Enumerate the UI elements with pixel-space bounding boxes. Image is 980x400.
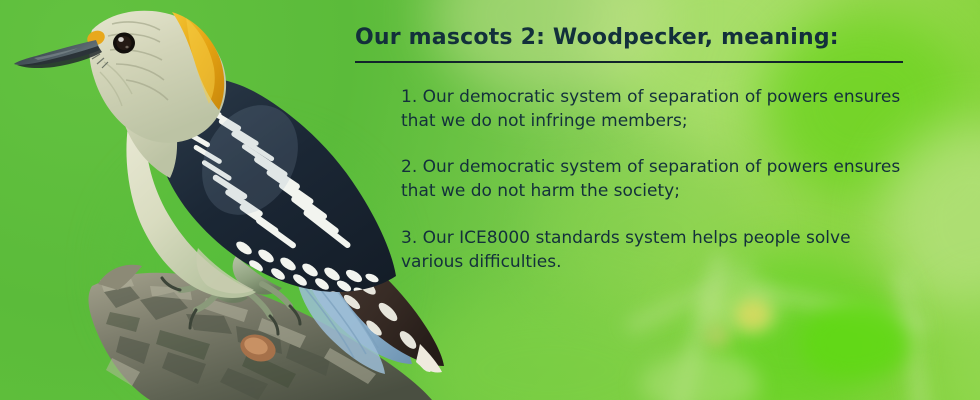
mascot-meaning-list: 1. Our democratic system of separation o… <box>401 85 925 275</box>
banner-text-block: Our mascots 2: Woodpecker, meaning: 1. O… <box>355 24 925 274</box>
blurred-bud <box>736 300 770 330</box>
list-item: 2. Our democratic system of separation o… <box>401 155 916 204</box>
list-item: 1. Our democratic system of separation o… <box>401 85 916 134</box>
title-divider <box>355 61 903 63</box>
woodpecker-banner: Our mascots 2: Woodpecker, meaning: 1. O… <box>0 0 980 400</box>
blurred-bud <box>704 324 730 348</box>
list-item: 3. Our ICE8000 standards system helps pe… <box>401 226 916 275</box>
page-title: Our mascots 2: Woodpecker, meaning: <box>355 24 925 52</box>
